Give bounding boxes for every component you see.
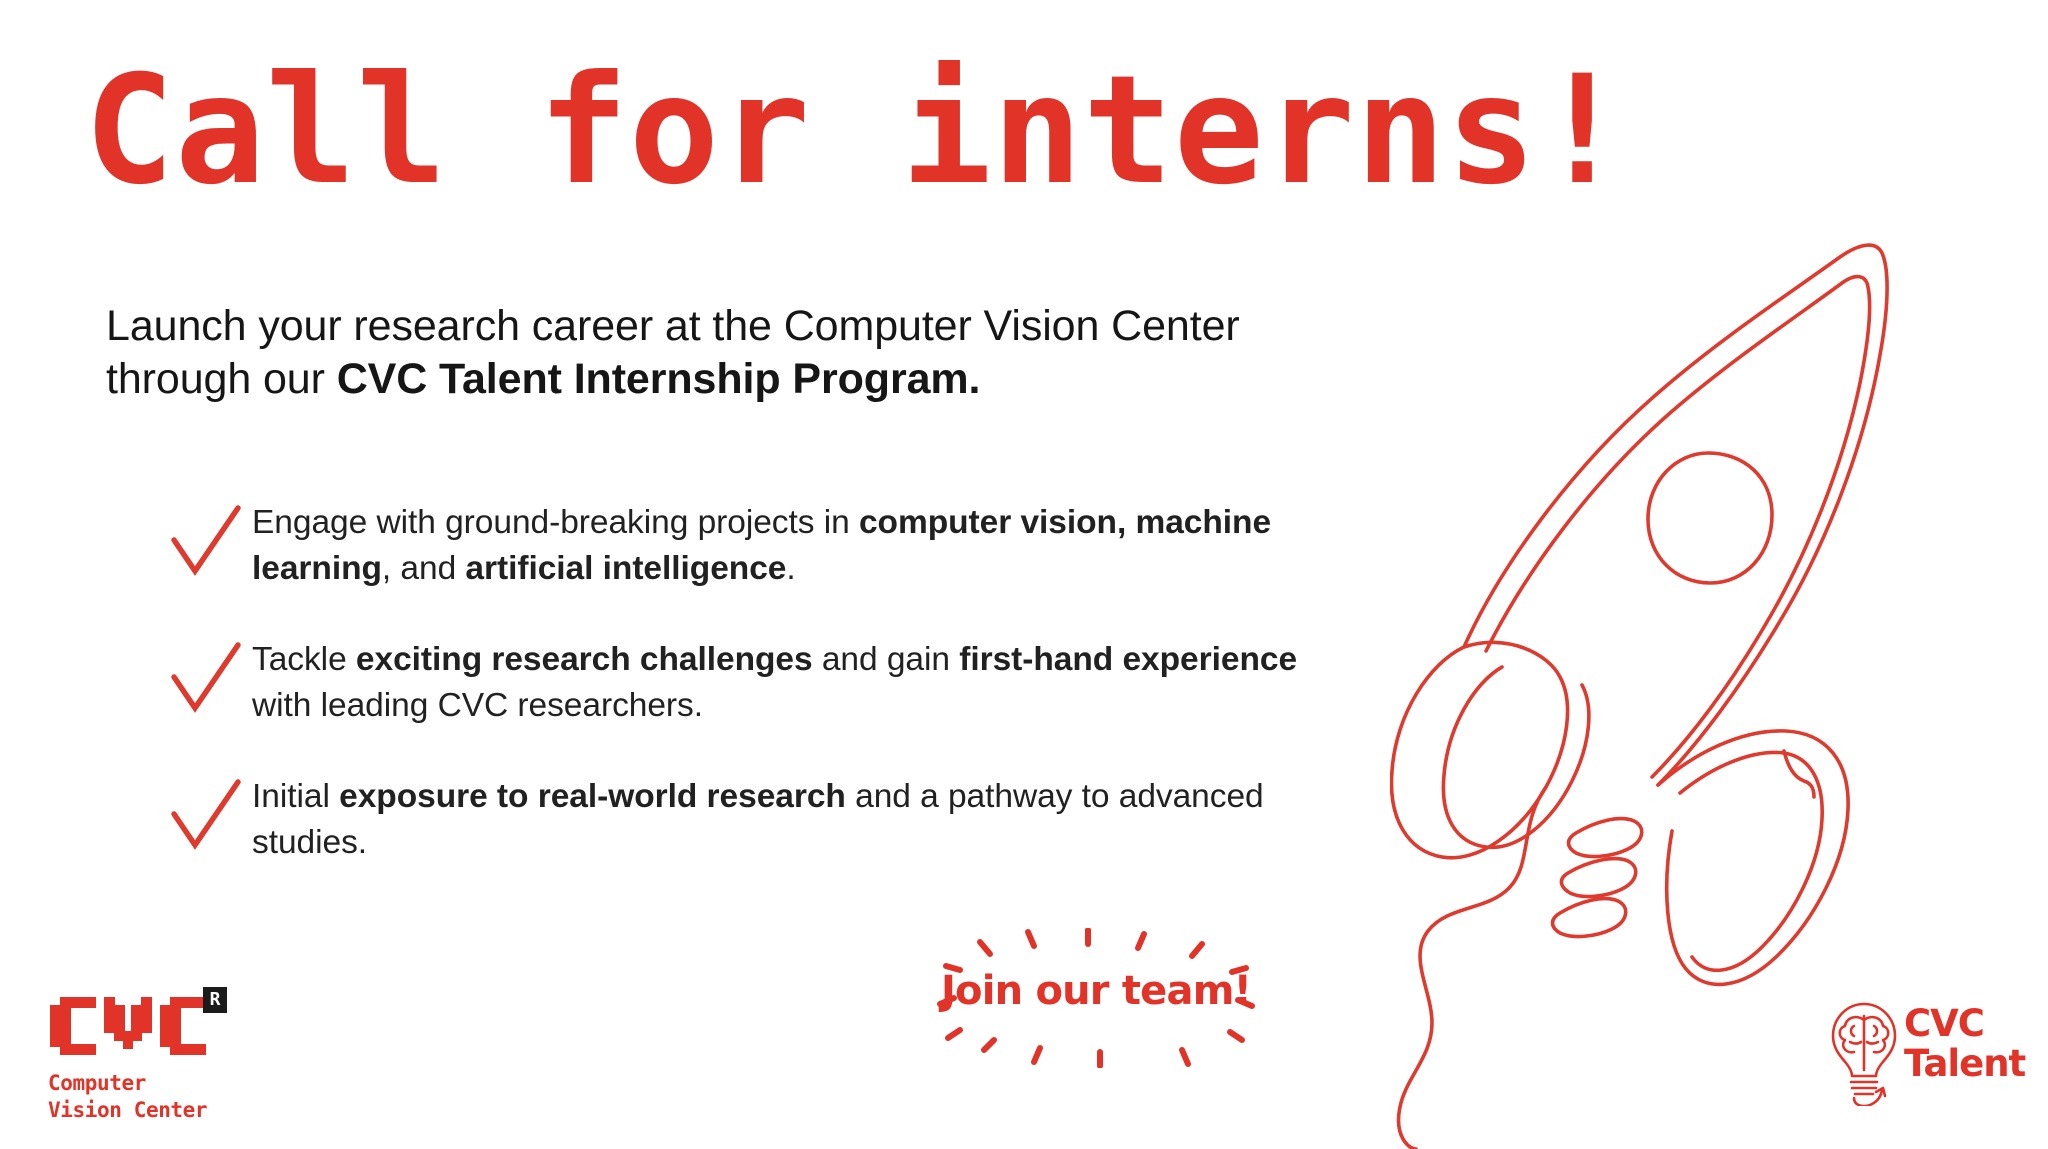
subtitle-program-name: CVC Talent Internship Program. — [337, 355, 981, 403]
cvc-tagline-line-1: Computer — [48, 1070, 298, 1097]
list-item: Initial exposure to real-world research … — [168, 772, 1298, 865]
registered-mark: R — [203, 987, 227, 1013]
subtitle-line-2-prefix: through our — [106, 355, 337, 403]
plain-text: Engage with ground-breaking projects in — [252, 504, 859, 541]
list-item: Engage with ground-breaking projects in … — [168, 498, 1298, 591]
emphasis-text: artificial intelligence — [465, 550, 786, 587]
page-title: Call for interns! — [84, 56, 1914, 206]
plain-text: , and — [382, 550, 466, 587]
list-item-text: Initial exposure to real-world research … — [252, 772, 1298, 865]
plain-text: and gain — [813, 641, 960, 678]
check-icon — [168, 639, 252, 723]
plain-text: Tackle — [252, 641, 356, 678]
list-item: Tackle exciting research challenges and … — [168, 635, 1298, 728]
list-item-text: Tackle exciting research challenges and … — [252, 635, 1298, 728]
subtitle: Launch your research career at the Compu… — [106, 300, 1566, 406]
cvc-wordmark-icon: R — [48, 995, 223, 1057]
list-item-text: Engage with ground-breaking projects in … — [252, 498, 1298, 591]
cvc-talent-wordmark: CVC Talent — [1900, 1000, 2025, 1083]
check-icon — [168, 502, 252, 586]
cvc-tagline: Computer Vision Center — [48, 1070, 298, 1124]
cvc-talent-line-1: CVC — [1904, 1004, 2025, 1044]
plain-text: with leading CVC researchers. — [252, 687, 703, 724]
subtitle-line-2: through our CVC Talent Internship Progra… — [106, 353, 1566, 406]
plain-text: Initial — [252, 778, 339, 815]
cvc-talent-logo: CVC Talent — [1828, 1000, 2028, 1120]
cvc-tagline-line-2: Vision Center — [48, 1097, 298, 1124]
brain-lightbulb-icon — [1828, 1000, 1900, 1106]
benefits-list: Engage with ground-breaking projects in … — [168, 498, 1298, 865]
poster-canvas: Call for interns! Launch your research c… — [0, 0, 2048, 1149]
cvc-logo: R Computer Vision Center — [48, 995, 298, 1124]
emphasis-text: exposure to real-world research — [339, 778, 846, 815]
cvc-talent-line-2: Talent — [1904, 1044, 2025, 1084]
emphasis-text: exciting research challenges — [356, 641, 813, 678]
join-our-team-badge[interactable]: Join our team! — [936, 928, 1256, 1068]
join-our-team-label: Join our team! — [936, 968, 1256, 1014]
emphasis-text: first-hand experience — [959, 641, 1297, 678]
check-icon — [168, 776, 252, 860]
plain-text: . — [786, 550, 795, 587]
subtitle-line-1: Launch your research career at the Compu… — [106, 302, 1240, 350]
